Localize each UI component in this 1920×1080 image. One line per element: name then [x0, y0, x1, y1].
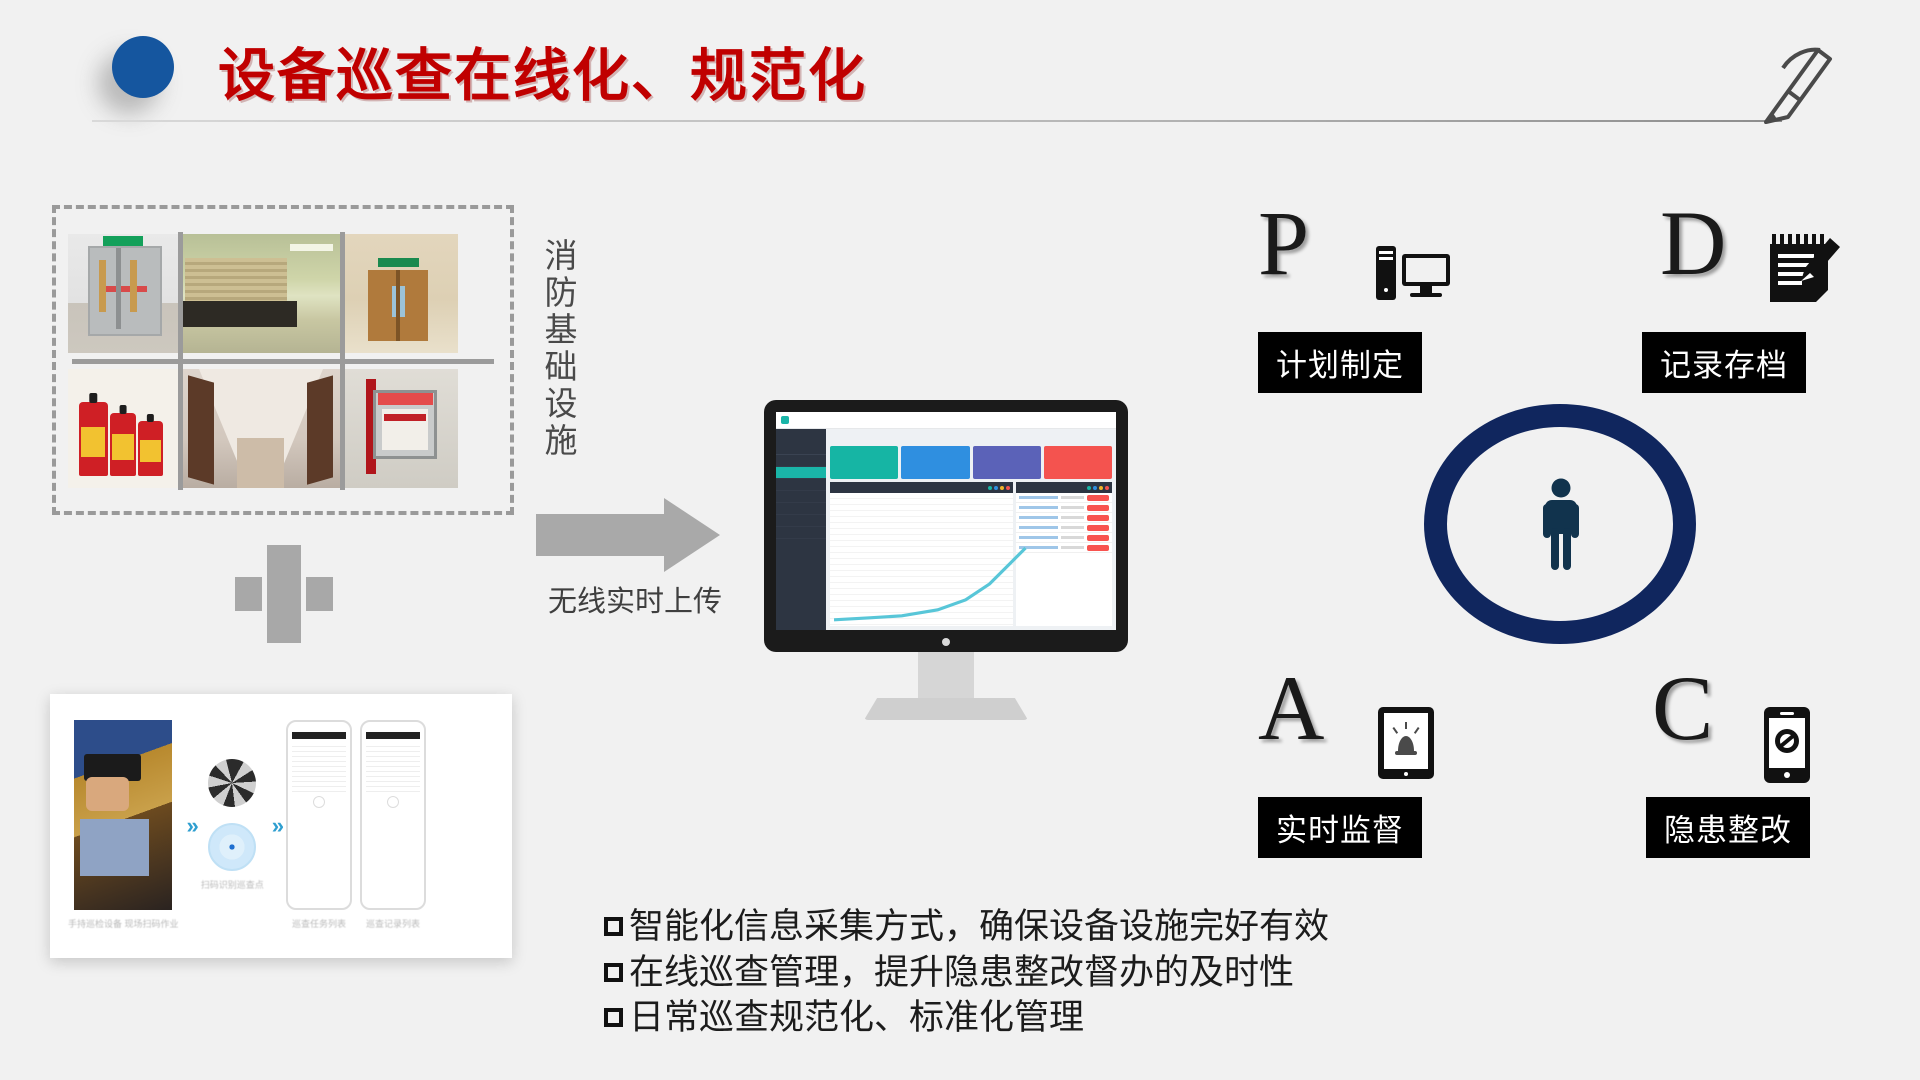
table-row: [1016, 523, 1112, 533]
fire-facility-label: 消防基础设施: [534, 238, 582, 460]
mobile-workflow-card: 手持巡检设备 现场扫码作业 » 扫码识别巡查点 » 巡查任务列表 巡查记录列表: [50, 694, 512, 958]
pdca-letter: P: [1258, 200, 1309, 287]
person-icon: [1538, 478, 1584, 572]
list-item: 在线巡查管理，提升隐患整改督办的及时性: [604, 951, 1329, 997]
upload-arrow-icon: [536, 498, 720, 572]
workflow-step-phone-1: 巡查任务列表: [286, 720, 352, 932]
square-bullet-icon: [604, 963, 623, 982]
workflow-step-caption: 巡查任务列表: [292, 918, 346, 932]
square-bullet-icon: [604, 1008, 623, 1027]
list-item-text: 智能化信息采集方式，确保设备设施完好有效: [629, 905, 1329, 951]
workflow-step-caption: 扫码识别巡查点: [201, 879, 264, 893]
dashboard-screen: [776, 412, 1116, 630]
rolling-shutter-photo: [178, 226, 343, 361]
upload-arrow-label: 无线实时上传: [530, 578, 740, 620]
fire-extinguisher-photo: [68, 361, 178, 496]
workflow-step-caption: 巡查记录列表: [366, 918, 420, 932]
chevron-right-icon: »: [187, 813, 193, 839]
pdca-quadrant-c: C 隐患整改: [1652, 665, 1713, 752]
pdca-label: 计划制定: [1258, 332, 1422, 393]
table-row: [1016, 533, 1112, 543]
list-item: 日常巡查规范化、标准化管理: [604, 996, 1329, 1042]
workflow-step-inspector: 手持巡检设备 现场扫码作业: [68, 720, 179, 932]
nfc-tag-icon: [208, 823, 256, 871]
table-row: [1016, 493, 1112, 503]
monitor-power-dot: [942, 638, 950, 646]
square-bullet-icon: [604, 917, 623, 936]
monitor-stand-base: [864, 698, 1028, 720]
pdca-label: 记录存档: [1642, 332, 1806, 393]
dashboard-chart-panel: [830, 482, 1013, 626]
fire-door-photo: [68, 226, 178, 361]
fire-hose-cabinet-photo: [343, 361, 458, 496]
dashboard-logo-icon: [781, 416, 789, 424]
table-row: [1016, 503, 1112, 513]
pdca-quadrant-d: D 记录存档: [1660, 200, 1726, 287]
chevron-right-icon: »: [272, 813, 278, 839]
desktop-computer-icon: [1374, 242, 1452, 304]
slide-canvas: 设备巡查在线化、规范化: [0, 0, 1920, 1080]
pdca-quadrant-p: P 计划制定: [1258, 200, 1309, 287]
pdca-letter: A: [1258, 665, 1324, 752]
elevator-photo: [343, 226, 458, 361]
workflow-step-phone-2: 巡查记录列表: [360, 720, 426, 932]
page-title: 设备巡查在线化、规范化: [218, 30, 867, 112]
header-divider: [92, 120, 1782, 122]
pdca-label: 隐患整改: [1646, 797, 1810, 858]
qr-code-icon: [208, 759, 256, 807]
fire-facility-photo-grid: [68, 226, 498, 496]
pdca-letter: D: [1660, 200, 1726, 287]
list-item-text: 在线巡查管理，提升隐患整改督办的及时性: [629, 951, 1294, 997]
list-item: 智能化信息采集方式，确保设备设施完好有效: [604, 905, 1329, 951]
table-row: [1016, 513, 1112, 523]
pdca-quadrant-a: A 实时监督: [1258, 665, 1324, 752]
bullet-list: 智能化信息采集方式，确保设备设施完好有效 在线巡查管理，提升隐患整改督办的及时性…: [604, 905, 1329, 1042]
workflow-step-tags: 扫码识别巡查点: [201, 759, 264, 893]
dashboard-sidebar[interactable]: [776, 429, 826, 630]
workflow-step-caption: 手持巡检设备 现场扫码作业: [68, 918, 179, 932]
monitor-stand-neck: [918, 652, 974, 702]
pen-icon: [1752, 30, 1842, 130]
pdca-letter: C: [1652, 665, 1713, 752]
corridor-photo: [178, 361, 343, 496]
grid-divider: [72, 359, 494, 364]
plus-icon: [230, 540, 338, 648]
tablet-alarm-icon: [1376, 705, 1436, 781]
list-item-text: 日常巡查规范化、标准化管理: [629, 996, 1084, 1042]
phone-prohibited-icon: [1762, 705, 1812, 785]
notepad-pencil-icon: [1768, 232, 1844, 304]
dashboard-kpi-cards: [830, 446, 1112, 479]
pdca-label: 实时监督: [1258, 797, 1422, 858]
desktop-monitor: [764, 400, 1128, 652]
header-bullet-circle: [112, 36, 174, 98]
